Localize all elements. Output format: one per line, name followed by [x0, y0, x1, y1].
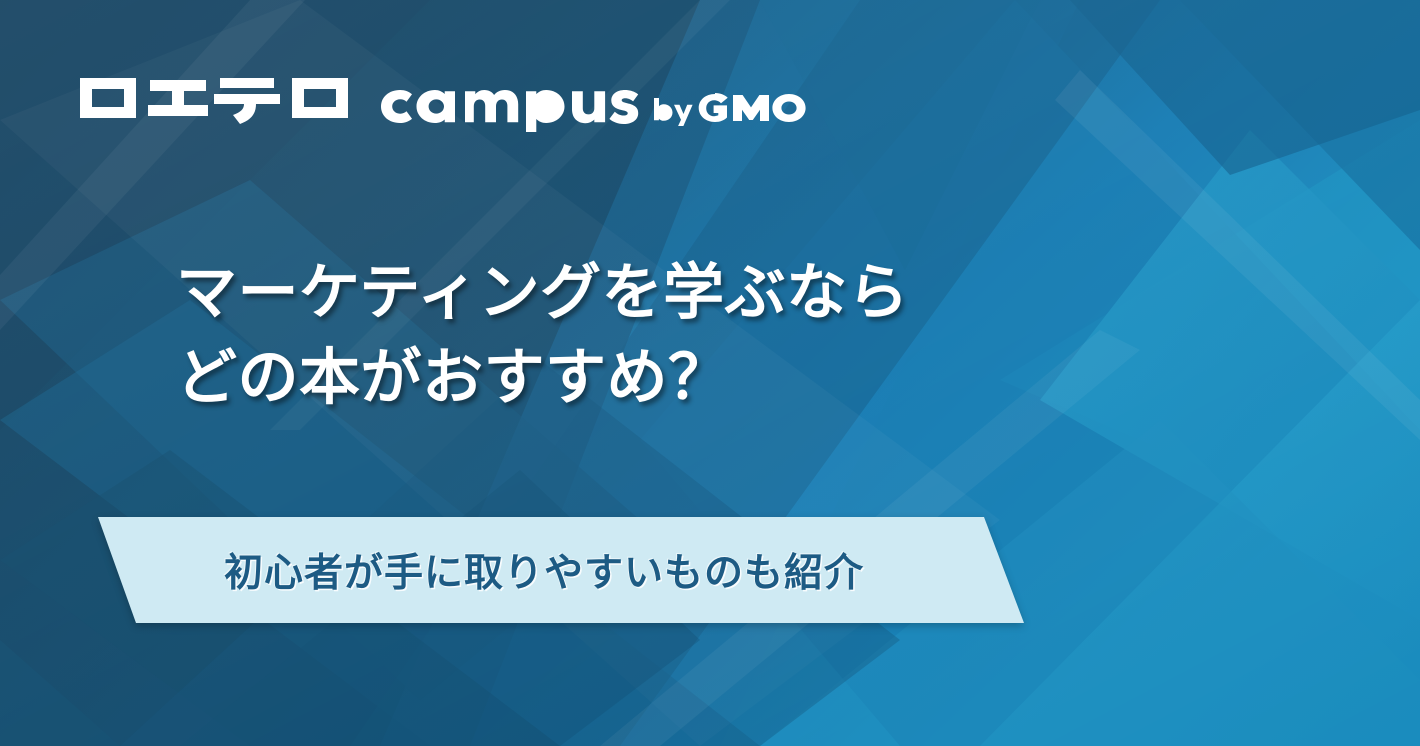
- article-hero-banner: マーケティングを学ぶなら どの本がおすすめ？ 初心者が手に取りやすいものも紹介: [0, 0, 1420, 746]
- site-logo[interactable]: [78, 72, 588, 126]
- subtitle-text: 初心者が手に取りやすいものも紹介: [224, 515, 864, 625]
- koeteko-campus-logo-mark: [78, 72, 588, 126]
- subtitle-ribbon: 初心者が手に取りやすいものも紹介: [0, 515, 1100, 625]
- page-title-line-1: マーケティングを学ぶなら: [176, 250, 909, 335]
- page-title: マーケティングを学ぶなら どの本がおすすめ？: [176, 250, 909, 420]
- page-title-line-2: どの本がおすすめ？: [176, 335, 909, 420]
